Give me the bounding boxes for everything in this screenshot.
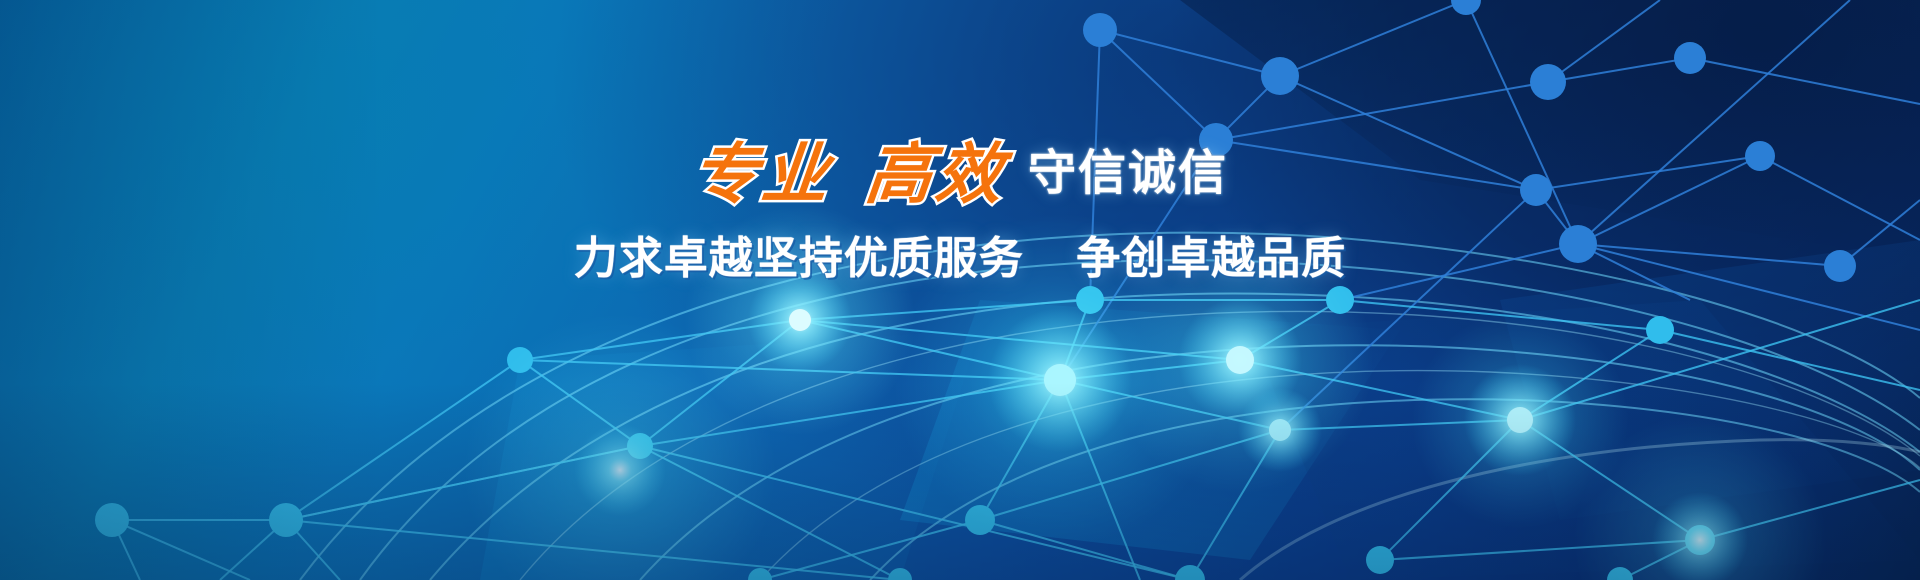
headline-line-1: 专业 高效 守信诚信: [0, 130, 1920, 218]
headline-line-2: 力求卓越坚持优质服务 争创卓越品质: [0, 222, 1920, 296]
keyword-spacer: [832, 174, 866, 175]
headline-slogan-part-2: 争创卓越品质: [1076, 222, 1346, 296]
headline-block: 专业 高效 守信诚信 力求卓越坚持优质服务 争创卓越品质: [0, 130, 1920, 296]
headline-keyword-professional: 专业: [687, 130, 836, 218]
headline-keyword-efficient: 高效: [861, 130, 1010, 218]
headline-subtext-trustworthy: 守信诚信: [1028, 130, 1228, 218]
headline-slogan-part-1: 力求卓越坚持优质服务: [574, 222, 1024, 296]
hero-banner: 专业 高效 守信诚信 力求卓越坚持优质服务 争创卓越品质: [0, 0, 1920, 580]
